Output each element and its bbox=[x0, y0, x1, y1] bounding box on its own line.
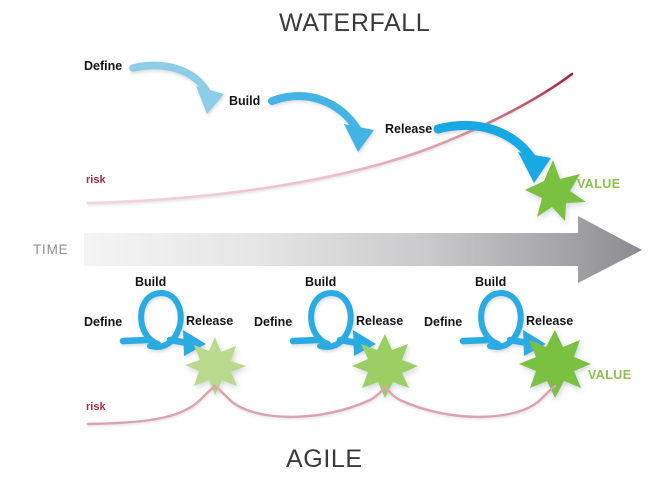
agile-iteration-1-release-label: Release bbox=[186, 315, 233, 328]
time-axis-label: TIME bbox=[33, 243, 68, 257]
diagram-canvas: WATERFALL AGILE TIME Define Build Releas… bbox=[0, 0, 650, 489]
agile-iteration-2-build-label: Build bbox=[305, 276, 336, 289]
waterfall-arrow-define-to-build bbox=[133, 65, 224, 114]
waterfall-arrow-release-to-value bbox=[438, 125, 551, 183]
page-title-agile: AGILE bbox=[286, 447, 363, 472]
agile-iteration-2-define-label: Define bbox=[254, 316, 292, 329]
waterfall-phase-define: Define bbox=[84, 60, 122, 73]
diagram-artwork bbox=[0, 0, 650, 489]
agile-value-label: VALUE bbox=[588, 369, 631, 382]
waterfall-risk-label: risk bbox=[86, 175, 106, 186]
agile-risk-curve bbox=[88, 386, 555, 424]
agile-iteration-3-release-label: Release bbox=[526, 315, 573, 328]
waterfall-phase-build: Build bbox=[229, 95, 260, 108]
time-arrow bbox=[84, 216, 642, 283]
agile-iteration-3-build-label: Build bbox=[475, 276, 506, 289]
page-title-waterfall: WATERFALL bbox=[279, 11, 430, 36]
agile-iteration-2-release-label: Release bbox=[356, 315, 403, 328]
waterfall-risk-curve bbox=[88, 74, 572, 203]
agile-risk-label: risk bbox=[86, 402, 106, 413]
agile-iteration-3-define-label: Define bbox=[424, 316, 462, 329]
waterfall-value-label: VALUE bbox=[577, 178, 620, 191]
agile-iteration-1-build-label: Build bbox=[135, 276, 166, 289]
waterfall-arrow-build-to-release bbox=[272, 96, 374, 152]
agile-iteration-1-define-label: Define bbox=[84, 316, 122, 329]
waterfall-phase-release: Release bbox=[385, 123, 432, 136]
